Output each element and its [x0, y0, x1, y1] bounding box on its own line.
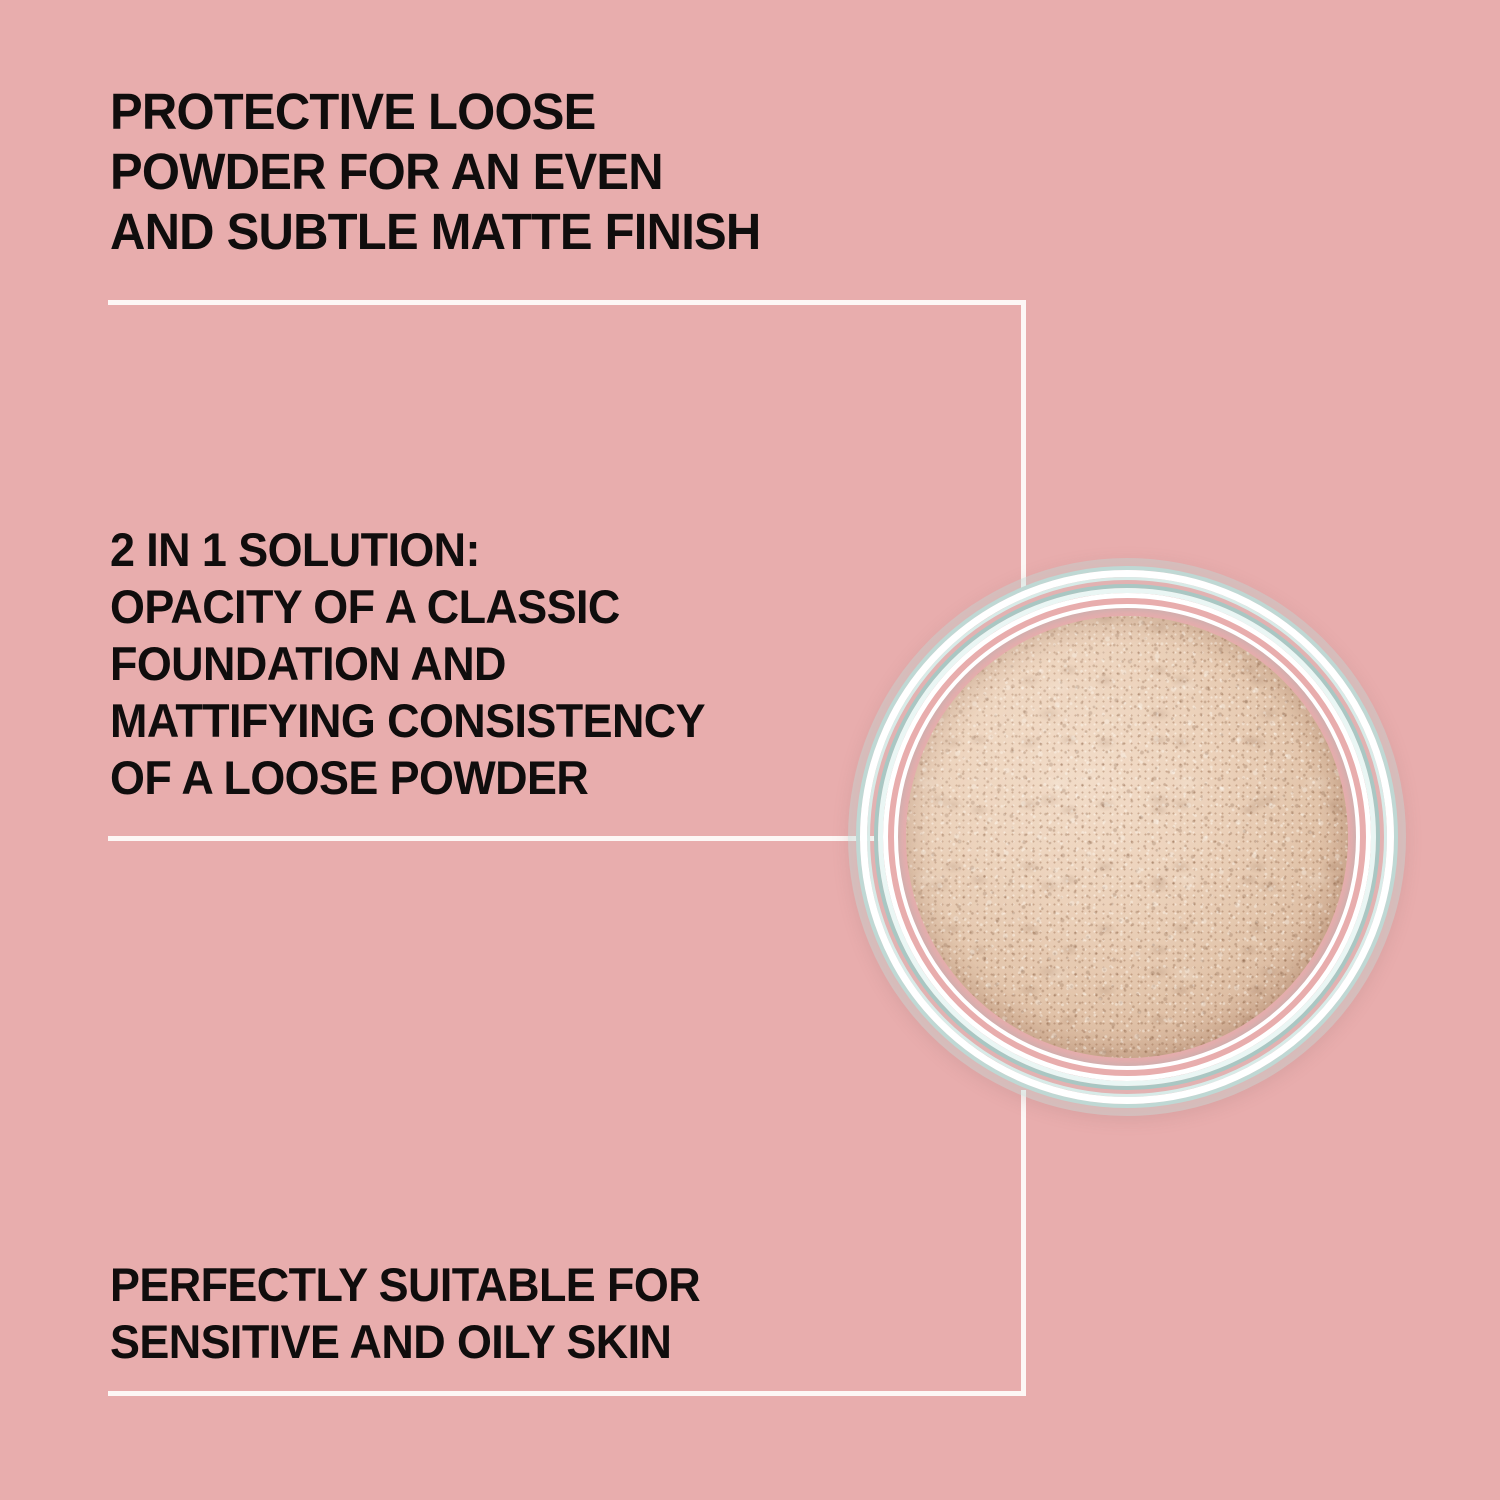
bracket-line-vertical-upper [1021, 300, 1026, 600]
powder-surface [906, 616, 1348, 1058]
benefit-text-2: 2 IN 1 SOLUTION: OPACITY OF A CLASSIC FO… [110, 521, 705, 806]
powder-shading [906, 616, 1348, 1058]
bracket-line-top [108, 300, 1026, 305]
benefit-text-1: PROTECTIVE LOOSE POWDER FOR AN EVEN AND … [110, 82, 761, 262]
loose-powder-jar-image [848, 558, 1406, 1116]
bracket-line-middle [108, 836, 880, 841]
bracket-line-bottom [108, 1391, 1026, 1396]
bracket-line-vertical-lower [1021, 1090, 1026, 1396]
product-benefits-banner: PROTECTIVE LOOSE POWDER FOR AN EVEN AND … [0, 0, 1500, 1500]
benefit-text-3: PERFECTLY SUITABLE FOR SENSITIVE AND OIL… [110, 1256, 700, 1370]
